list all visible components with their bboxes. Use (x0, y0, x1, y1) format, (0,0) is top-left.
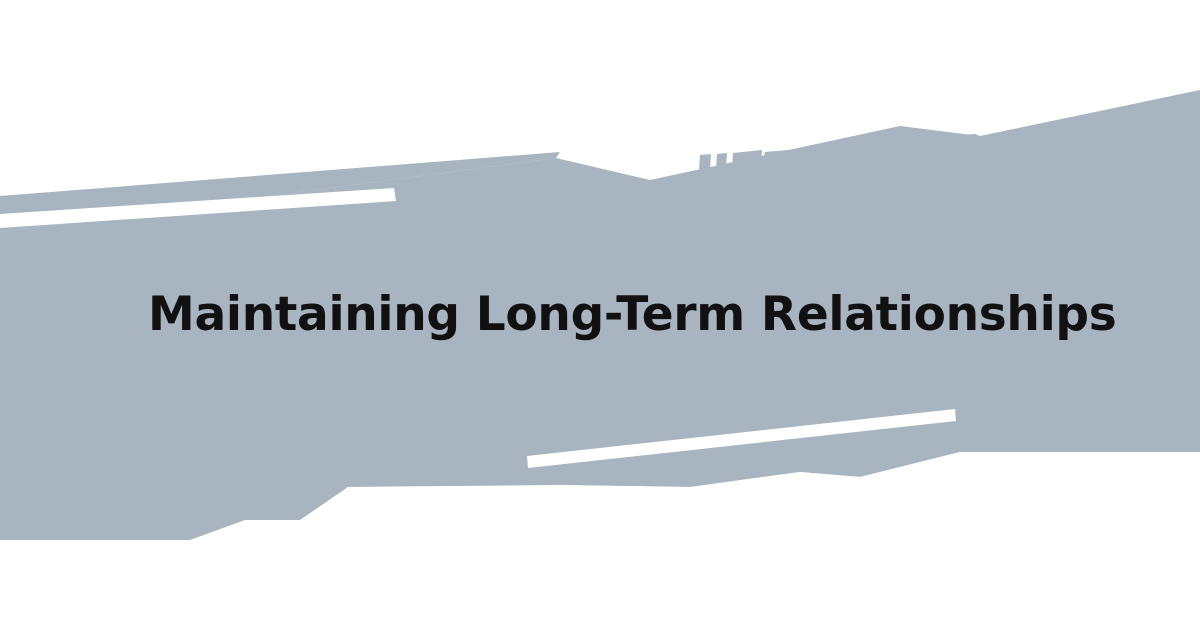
page-title: Maintaining Long-Term Relationships (0, 289, 1116, 341)
title-layer: Maintaining Long-Term Relationships (0, 0, 1200, 630)
banner-card: Maintaining Long-Term Relationships (0, 0, 1200, 630)
